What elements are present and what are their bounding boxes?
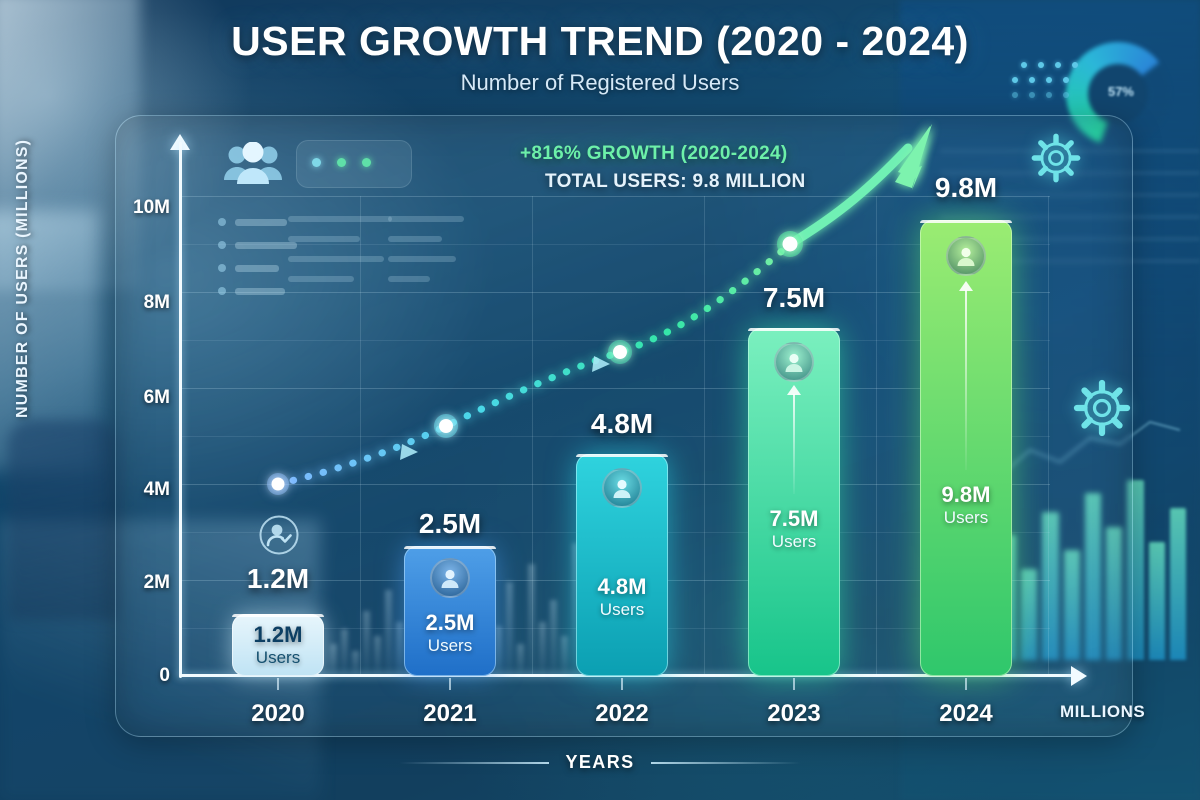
bar-2023-value: 7.5M — [748, 506, 840, 532]
bar-cap — [576, 454, 668, 457]
bar-2024-value: 9.8M — [920, 482, 1012, 508]
bar-cap — [232, 614, 324, 617]
infographic-canvas: 57% USER GROWTH TREND (2020 - 2024) Numb… — [0, 0, 1200, 800]
bar-2022[interactable]: 4.8M Users — [576, 454, 668, 676]
gear-icon-secondary[interactable] — [1072, 378, 1132, 443]
gear-icon[interactable] — [1030, 132, 1082, 189]
total-users-annotation: TOTAL USERS: 9.8 MILLION — [545, 171, 806, 193]
bar-2022-value: 4.8M — [576, 574, 668, 600]
y-tick-8m: 8M — [144, 292, 170, 314]
decorative-column-three — [388, 216, 468, 296]
avatar — [774, 342, 814, 382]
bar-2020-value: 1.2M — [232, 622, 324, 648]
verified-user-icon — [258, 514, 300, 561]
x-tick-2020: 2020 — [251, 700, 304, 728]
bar-2021[interactable]: 2.5M Users — [404, 546, 496, 676]
bar-2024-unit: Users — [920, 508, 1012, 528]
bar-2022-top-label: 4.8M — [591, 408, 653, 440]
y-axis-tick-labels: 10M 8M 6M 4M 2M 0 — [120, 0, 170, 800]
bar-2021-unit: Users — [404, 636, 496, 656]
background-office-chair — [8, 420, 118, 620]
y-axis-line — [179, 142, 182, 678]
avatar — [946, 236, 986, 276]
x-tick-2024: 2024 — [939, 700, 992, 728]
x-tick-2023: 2023 — [767, 700, 820, 728]
x-tick-2021: 2021 — [423, 700, 476, 728]
bar-cap — [748, 328, 840, 331]
bar-2023-unit: Users — [748, 532, 840, 552]
y-tick-10m: 10M — [133, 197, 170, 219]
bar-2024-top-label: 9.8M — [935, 172, 997, 204]
bar-2020[interactable]: 1.2M Users — [232, 614, 324, 676]
x-axis-unit-label: MILLIONS — [1060, 702, 1145, 722]
bar-2021-top-label: 2.5M — [419, 508, 481, 540]
bar-2023-top-label: 7.5M — [763, 282, 825, 314]
bar-cap — [920, 220, 1012, 223]
avatar — [602, 468, 642, 508]
bar-cap — [404, 546, 496, 549]
growth-arrow-icon — [793, 394, 795, 494]
growth-annotation: +816% GROWTH (2020-2024) — [520, 143, 788, 165]
y-tick-6m: 6M — [144, 387, 170, 409]
x-axis-title-group: YEARS — [0, 752, 1200, 773]
y-axis-title: NUMBER OF USERS (MILLIONS) — [14, 139, 32, 418]
background-donut-percent: 57% — [1108, 84, 1134, 99]
x-axis-arrow — [1071, 666, 1087, 686]
x-tick-2022: 2022 — [595, 700, 648, 728]
page-title: USER GROWTH TREND (2020 - 2024) — [0, 18, 1200, 65]
divider-left — [399, 762, 549, 764]
group-users-icon — [222, 142, 284, 191]
bar-2024[interactable]: 9.8M Users — [920, 220, 1012, 676]
y-tick-0: 0 — [159, 665, 170, 687]
growth-arrow-icon — [965, 290, 967, 470]
y-tick-4m: 4M — [144, 479, 170, 501]
dot-grid-decoration — [1012, 62, 1086, 107]
bar-2021-value: 2.5M — [404, 610, 496, 636]
x-axis-title: YEARS — [565, 752, 634, 773]
y-tick-2m: 2M — [144, 572, 170, 594]
status-dots-decoration — [312, 158, 371, 167]
avatar — [430, 558, 470, 598]
bar-2023[interactable]: 7.5M Users — [748, 328, 840, 676]
bar-2020-top-label: 1.2M — [247, 563, 309, 595]
decorative-column-two — [288, 216, 398, 296]
bar-2022-unit: Users — [576, 600, 668, 620]
divider-right — [651, 762, 801, 764]
bar-2020-unit: Users — [232, 648, 324, 668]
